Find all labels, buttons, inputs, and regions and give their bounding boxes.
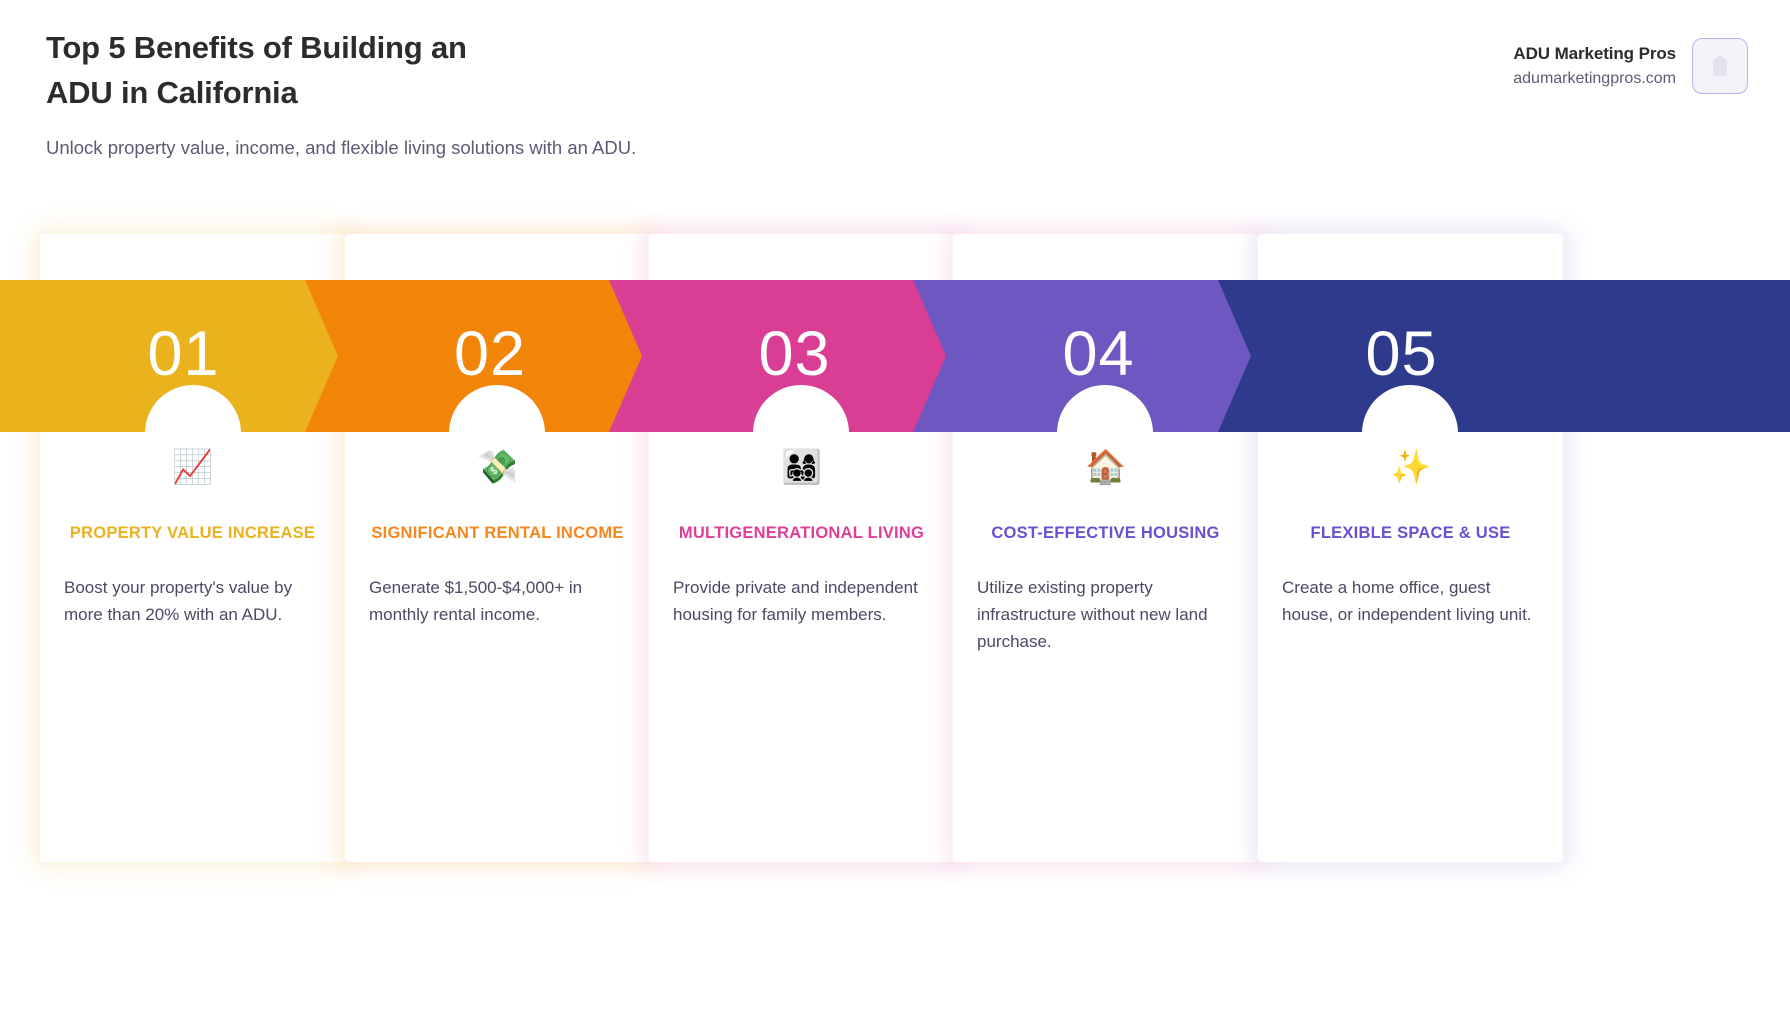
card-body: 💸 SIGNIFICANT RENTAL INCOME Generate $1,… <box>345 446 650 628</box>
card-description: Provide private and independent housing … <box>671 574 932 628</box>
benefit-card-04: 🏠 COST-EFFECTIVE HOUSING Utilize existin… <box>953 234 1258 862</box>
card-title: PROPERTY VALUE INCREASE <box>62 521 323 547</box>
benefit-card-01: 📈 PROPERTY VALUE INCREASE Boost your pro… <box>40 234 345 862</box>
logo-glyph-icon <box>1713 56 1727 76</box>
benefit-card-05: ✨ FLEXIBLE SPACE & USE Create a home off… <box>1258 234 1563 862</box>
page-subtitle: Unlock property value, income, and flexi… <box>46 134 691 162</box>
card-title: SIGNIFICANT RENTAL INCOME <box>367 521 628 547</box>
card-description: Utilize existing property infrastructure… <box>975 574 1236 656</box>
brand-name: ADU Marketing Pros <box>1513 43 1676 66</box>
brand-logo-placeholder-icon <box>1692 38 1748 94</box>
card-body: 📈 PROPERTY VALUE INCREASE Boost your pro… <box>40 446 345 628</box>
card-body: ✨ FLEXIBLE SPACE & USE Create a home off… <box>1258 446 1563 628</box>
brand-text: ADU Marketing Pros adumarketingpros.com <box>1513 38 1676 90</box>
brand-url: adumarketingpros.com <box>1513 68 1676 90</box>
card-description: Boost your property's value by more than… <box>62 574 323 628</box>
page-title-line-2: ADU in California <box>46 71 566 116</box>
card-description: Create a home office, guest house, or in… <box>1280 574 1541 628</box>
page-title-line-1: Top 5 Benefits of Building an <box>46 26 566 71</box>
house-icon: 🏠 <box>975 446 1236 486</box>
sparkles-icon: ✨ <box>1280 446 1541 486</box>
benefit-card-03: 👨‍👩‍👧‍👦 MULTIGENERATIONAL LIVING Provide… <box>649 234 954 862</box>
card-title: FLEXIBLE SPACE & USE <box>1280 521 1541 547</box>
chart-increasing-icon: 📈 <box>62 446 323 486</box>
card-body: 🏠 COST-EFFECTIVE HOUSING Utilize existin… <box>953 446 1258 655</box>
brand-block: ADU Marketing Pros adumarketingpros.com <box>1513 38 1748 94</box>
header: Top 5 Benefits of Building an ADU in Cal… <box>46 26 766 162</box>
family-icon: 👨‍👩‍👧‍👦 <box>671 446 932 486</box>
card-description: Generate $1,500-$4,000+ in monthly renta… <box>367 574 628 628</box>
benefit-card-02: 💸 SIGNIFICANT RENTAL INCOME Generate $1,… <box>345 234 650 862</box>
card-title: COST-EFFECTIVE HOUSING <box>975 521 1236 547</box>
benefit-card-list: 📈 PROPERTY VALUE INCREASE Boost your pro… <box>0 234 1790 862</box>
infographic-page: Top 5 Benefits of Building an ADU in Cal… <box>0 0 1790 1024</box>
page-title: Top 5 Benefits of Building an ADU in Cal… <box>46 26 566 116</box>
card-body: 👨‍👩‍👧‍👦 MULTIGENERATIONAL LIVING Provide… <box>649 446 954 628</box>
money-with-wings-icon: 💸 <box>367 446 628 486</box>
card-title: MULTIGENERATIONAL LIVING <box>671 521 932 547</box>
